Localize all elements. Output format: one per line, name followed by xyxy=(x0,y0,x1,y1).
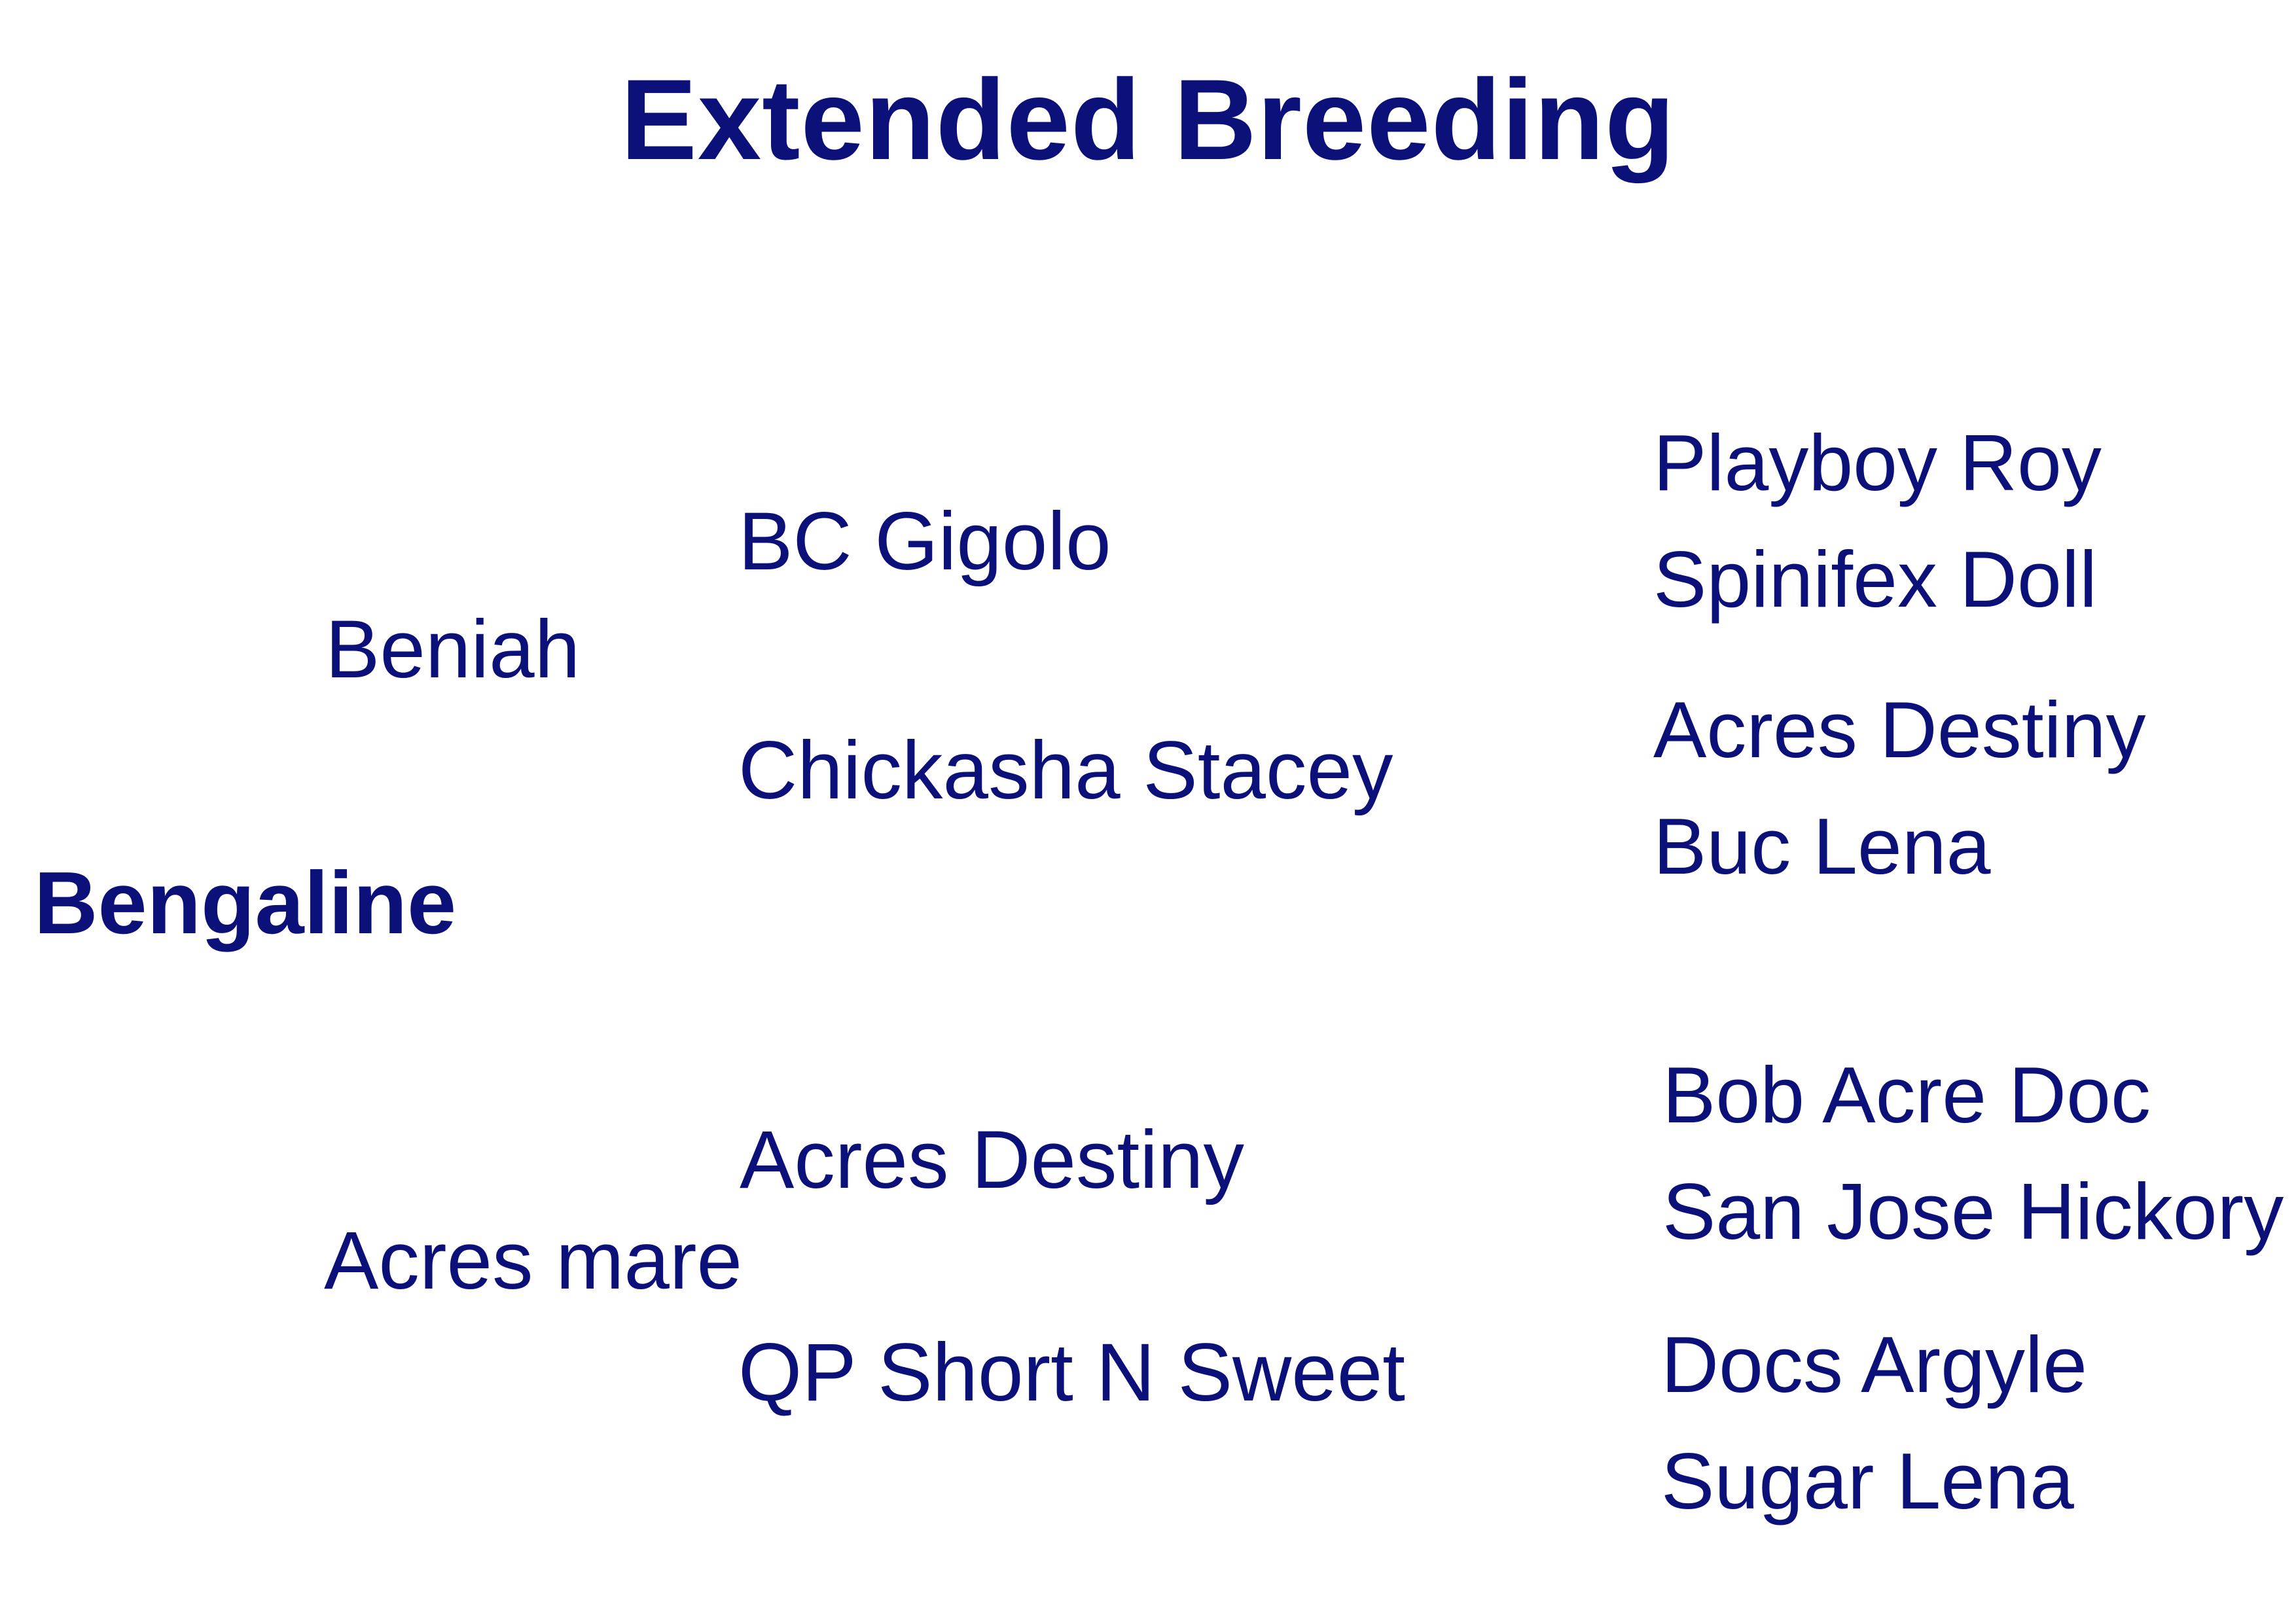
pedigree-ggp-c-line1: Bob Acre Doc xyxy=(1662,1037,2284,1153)
pedigree-great-grandparents-group-a: Playboy Roy Spinifex Doll xyxy=(1653,404,2102,637)
pedigree-great-grandparents-group-c: Bob Acre Doc San Jose Hickory xyxy=(1662,1037,2284,1270)
pedigree-dam-dam: QP Short N Sweet xyxy=(738,1332,1405,1414)
pedigree-ggp-d-line1: Docs Argyle xyxy=(1661,1306,2087,1423)
pedigree-ggp-c-line2: San Jose Hickory xyxy=(1662,1153,2284,1270)
pedigree-ggp-b-line1: Acres Destiny xyxy=(1653,671,2146,788)
pedigree-slide: Extended Breeding Beniah Acres mare Beng… xyxy=(0,0,2296,1623)
pedigree-sire: Beniah xyxy=(325,609,580,690)
pedigree-dam-sire: Acres Destiny xyxy=(740,1119,1244,1201)
pedigree-ggp-a-line1: Playboy Roy xyxy=(1653,404,2102,521)
pedigree-dam: Acres mare xyxy=(324,1220,742,1302)
pedigree-sire-sire: BC Gigolo xyxy=(738,501,1111,582)
pedigree-subject: Bengaline xyxy=(34,859,456,947)
pedigree-ggp-d-line2: Sugar Lena xyxy=(1661,1423,2087,1539)
pedigree-ggp-b-line2: Buc Lena xyxy=(1653,788,2146,904)
pedigree-great-grandparents-group-b: Acres Destiny Buc Lena xyxy=(1653,671,2146,904)
pedigree-sire-dam: Chickasha Stacey xyxy=(738,730,1393,811)
page-title: Extended Breeding xyxy=(0,63,2296,177)
pedigree-ggp-a-line2: Spinifex Doll xyxy=(1653,521,2102,637)
pedigree-great-grandparents-group-d: Docs Argyle Sugar Lena xyxy=(1661,1306,2087,1539)
